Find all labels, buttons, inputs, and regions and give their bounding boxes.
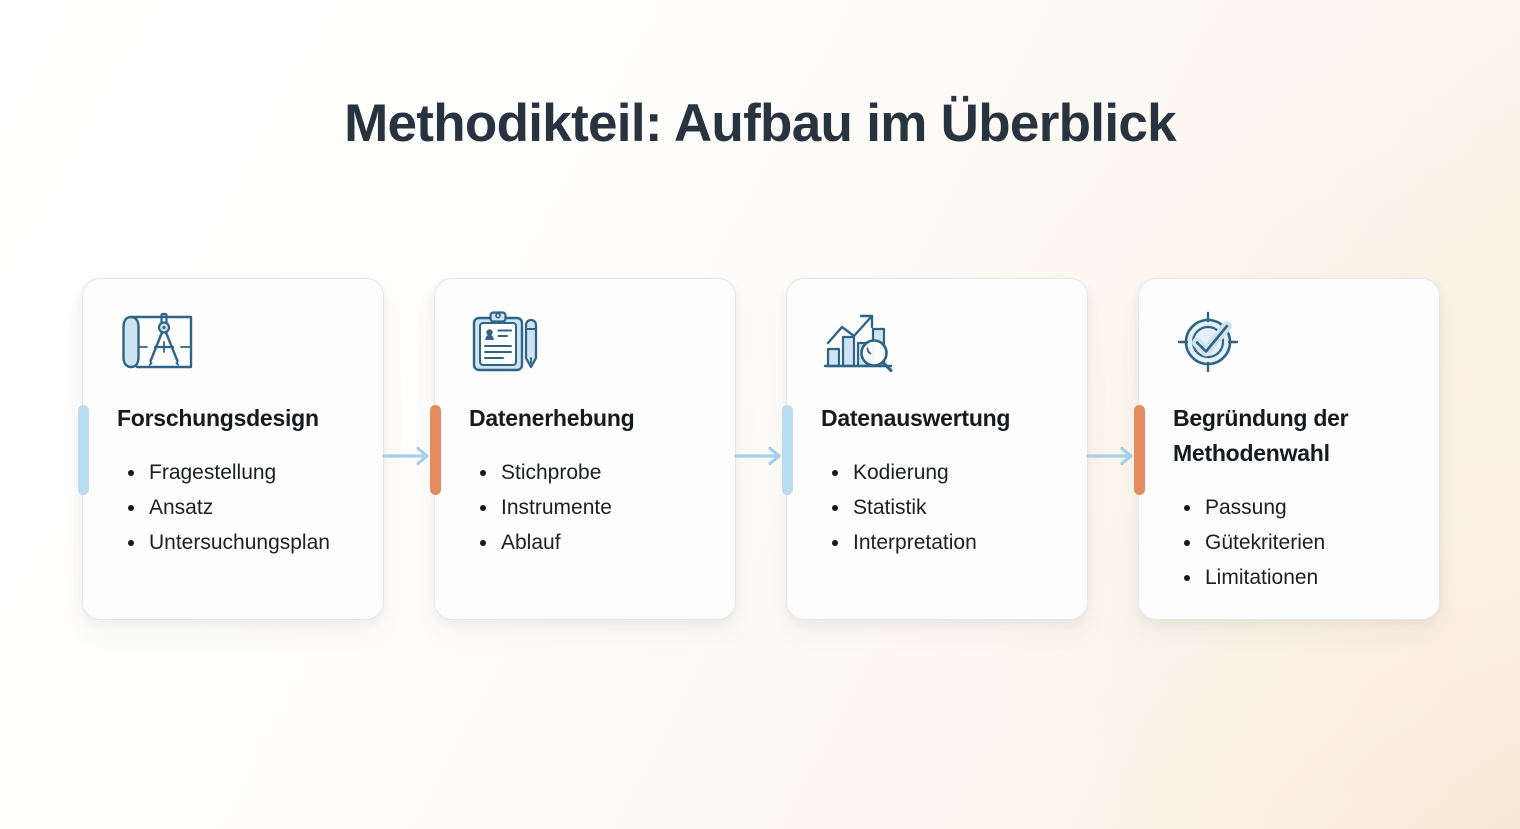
card-title: Datenerhebung [469,401,721,436]
card-bullet-list: Passung Gütekriterien Limitationen [1181,490,1433,595]
card-title: Forschungsdesign [117,401,369,436]
list-item: Fragestellung [125,455,377,490]
target-check-icon [1173,309,1257,375]
list-item: Ansatz [125,490,377,525]
list-item: Kodierung [829,455,1081,490]
flow-card-forschungsdesign[interactable]: Forschungsdesign Fragestellung Ansatz Un… [82,278,384,620]
card-bullet-list: Stichprobe Instrumente Ablauf [477,455,729,560]
card-title: Datenauswertung [821,401,1073,436]
list-item: Passung [1181,490,1433,525]
clipboard-pen-icon [469,309,553,375]
card-title: Begründung der Methodenwahl [1173,401,1425,471]
list-item: Limitationen [1181,560,1433,595]
slide-canvas: Methodikteil: Aufbau im Überblick [0,0,1520,829]
list-item: Untersuchungsplan [125,525,377,560]
arrow-right-icon [382,444,436,468]
flow-card-datenauswertung[interactable]: Datenauswertung Kodierung Statistik Inte… [786,278,1088,620]
list-item: Ablauf [477,525,729,560]
accent-tab [78,405,89,495]
list-item: Gütekriterien [1181,525,1433,560]
arrow-right-icon [734,444,788,468]
process-flow: Forschungsdesign Fragestellung Ansatz Un… [82,278,1438,620]
list-item: Interpretation [829,525,1081,560]
flow-card-begruendung-der-methodenwahl[interactable]: Begründung der Methodenwahl Passung Güte… [1138,278,1440,620]
list-item: Stichprobe [477,455,729,490]
flow-card-datenerhebung[interactable]: Datenerhebung Stichprobe Instrumente Abl… [434,278,736,620]
card-bullet-list: Fragestellung Ansatz Untersuchungsplan [125,455,377,560]
blueprint-compass-icon [117,309,201,375]
page-title: Methodikteil: Aufbau im Überblick [0,92,1520,156]
card-bullet-list: Kodierung Statistik Interpretation [829,455,1081,560]
list-item: Statistik [829,490,1081,525]
arrow-right-icon [1086,444,1140,468]
list-item: Instrumente [477,490,729,525]
bar-chart-magnifier-icon [821,309,905,375]
